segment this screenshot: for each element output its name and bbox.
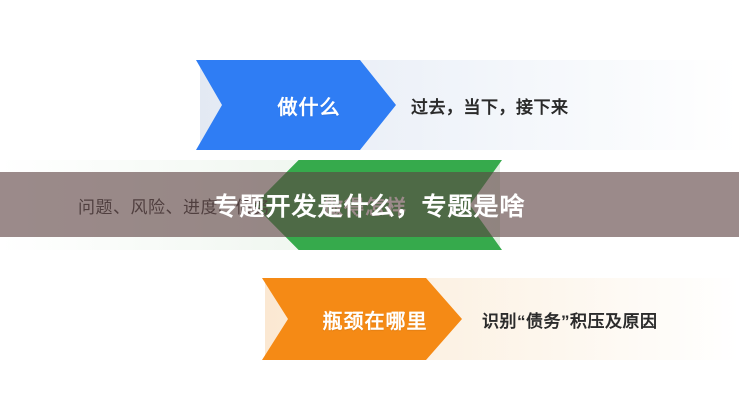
chevron-label-bottleneck: 瓶颈在哪里: [262, 305, 462, 334]
chevron-shape-do-what[interactable]: 做什么: [196, 60, 396, 150]
diagram-row-bottom: 瓶颈在哪里 识别“债务”积压及原因: [0, 278, 739, 360]
diagram-canvas: 做什么 过去，当下，接下来 做得怎样 问题、风险、进度、债务 瓶颈在哪里 识别“…: [0, 0, 739, 400]
chevron-label-do-what: 做什么: [196, 91, 396, 120]
row-description-bottleneck: 识别“债务”积压及原因: [482, 278, 658, 360]
caption-banner-title: 专题开发是什么，专题是啥: [213, 187, 525, 223]
diagram-row-top: 做什么 过去，当下，接下来: [0, 60, 739, 150]
caption-banner-overlay: 专题开发是什么，专题是啥: [0, 172, 739, 237]
row-description-do-what: 过去，当下，接下来: [411, 60, 569, 150]
chevron-shape-bottleneck[interactable]: 瓶颈在哪里: [262, 278, 462, 360]
